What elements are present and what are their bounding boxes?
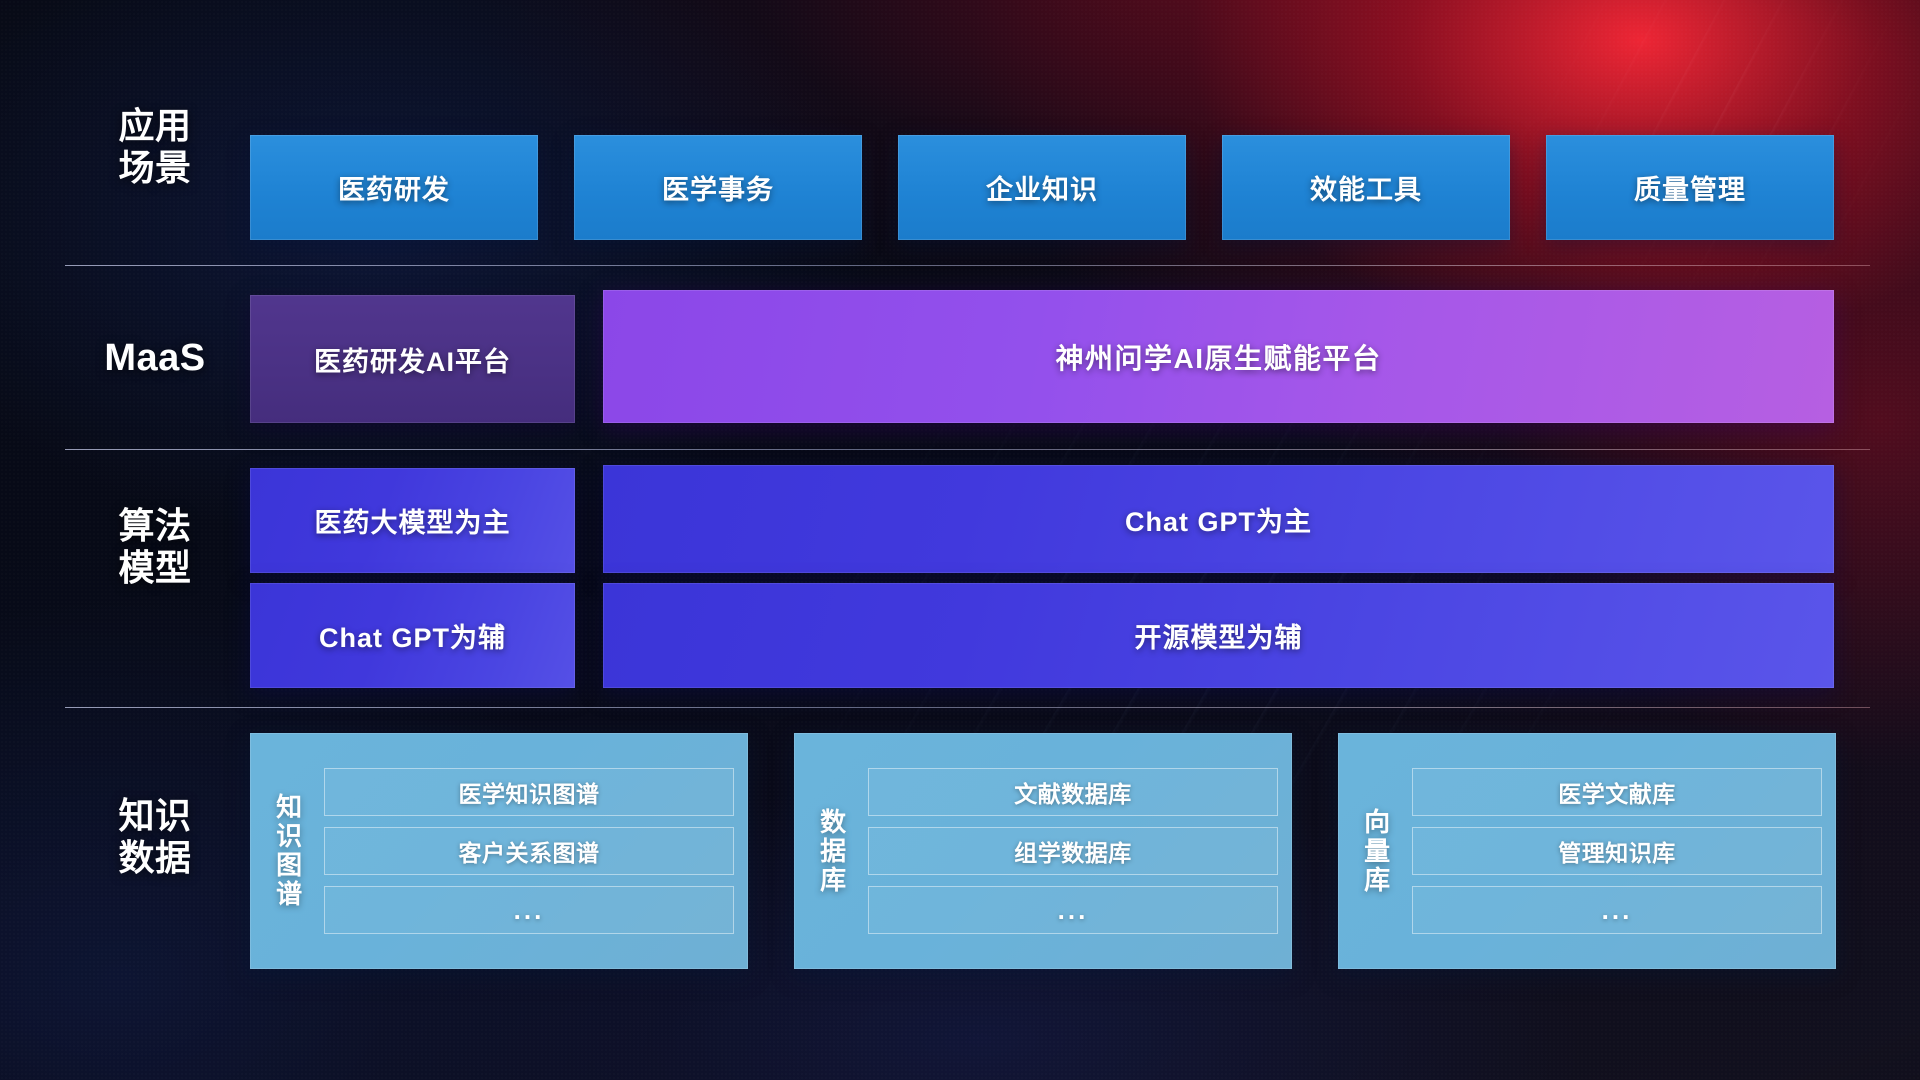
algorithm-label: 医药大模型为主 xyxy=(315,501,511,540)
layer-label-line1: 算法 xyxy=(65,505,245,547)
maas-platform-label: 医药研发AI平台 xyxy=(314,340,511,379)
layer-divider-1 xyxy=(65,265,1870,266)
layer-label-line2: 数据 xyxy=(65,837,245,879)
knowledge-item[interactable]: 医学文献库 xyxy=(1412,768,1822,816)
algorithm-label: Chat GPT为辅 xyxy=(319,616,506,655)
algorithm-label: 开源模型为辅 xyxy=(1135,616,1303,655)
layer-label-line2: 场景 xyxy=(65,147,245,189)
knowledge-group-items: 医学知识图谱 客户关系图谱 ... xyxy=(324,747,734,955)
maas-platform-card-medical[interactable]: 医药研发AI平台 xyxy=(250,295,575,423)
algorithm-card-secondary-right[interactable]: 开源模型为辅 xyxy=(603,583,1834,688)
knowledge-item-more[interactable]: ... xyxy=(324,886,734,934)
layer-label-maas: MaaS xyxy=(65,336,245,381)
algorithm-card-secondary-left[interactable]: Chat GPT为辅 xyxy=(250,583,575,688)
app-scenario-card-5[interactable]: 质量管理 xyxy=(1546,135,1834,240)
app-scenario-label: 医学事务 xyxy=(662,168,774,207)
layer-divider-2 xyxy=(65,449,1870,450)
layer-label-line1: 知识 xyxy=(65,795,245,837)
app-scenario-label: 效能工具 xyxy=(1310,168,1422,207)
architecture-diagram: 应用 场景 医药研发 医学事务 企业知识 效能工具 质量管理 MaaS 医药研发… xyxy=(0,0,1920,1080)
knowledge-item-more[interactable]: ... xyxy=(1412,886,1822,934)
layer-label-knowledge-data: 知识 数据 xyxy=(65,795,245,880)
knowledge-item[interactable]: 医学知识图谱 xyxy=(324,768,734,816)
knowledge-item-more[interactable]: ... xyxy=(868,886,1278,934)
algorithm-card-primary-right[interactable]: Chat GPT为主 xyxy=(603,465,1834,573)
app-scenario-label: 企业知识 xyxy=(986,168,1098,207)
layer-divider-3 xyxy=(65,707,1870,708)
layer-label-line1: MaaS xyxy=(65,336,245,381)
knowledge-item[interactable]: 组学数据库 xyxy=(868,827,1278,875)
knowledge-group-vector[interactable]: 向量库 医学文献库 管理知识库 ... xyxy=(1338,733,1836,969)
app-scenario-card-4[interactable]: 效能工具 xyxy=(1222,135,1510,240)
algorithm-label: Chat GPT为主 xyxy=(1125,500,1312,539)
knowledge-item[interactable]: 管理知识库 xyxy=(1412,827,1822,875)
knowledge-item[interactable]: 文献数据库 xyxy=(868,768,1278,816)
layer-label-application-scenarios: 应用 场景 xyxy=(65,105,245,190)
knowledge-group-title: 知识图谱 xyxy=(250,747,324,955)
maas-platform-card-main[interactable]: 神州问学AI原生赋能平台 xyxy=(603,290,1834,423)
app-scenario-label: 医药研发 xyxy=(338,168,450,207)
knowledge-group-database[interactable]: 数据库 文献数据库 组学数据库 ... xyxy=(794,733,1292,969)
algorithm-card-primary-left[interactable]: 医药大模型为主 xyxy=(250,468,575,573)
knowledge-group-title: 数据库 xyxy=(794,747,868,955)
knowledge-group-items: 医学文献库 管理知识库 ... xyxy=(1412,747,1822,955)
layer-label-algorithm-model: 算法 模型 xyxy=(65,505,245,590)
layer-label-line1: 应用 xyxy=(65,105,245,147)
app-scenario-card-3[interactable]: 企业知识 xyxy=(898,135,1186,240)
knowledge-group-items: 文献数据库 组学数据库 ... xyxy=(868,747,1278,955)
app-scenario-label: 质量管理 xyxy=(1634,168,1746,207)
app-scenario-card-2[interactable]: 医学事务 xyxy=(574,135,862,240)
knowledge-group-graph[interactable]: 知识图谱 医学知识图谱 客户关系图谱 ... xyxy=(250,733,748,969)
layer-label-line2: 模型 xyxy=(65,547,245,589)
app-scenario-card-1[interactable]: 医药研发 xyxy=(250,135,538,240)
knowledge-group-title: 向量库 xyxy=(1338,747,1412,955)
maas-platform-label: 神州问学AI原生赋能平台 xyxy=(1055,337,1381,377)
knowledge-item[interactable]: 客户关系图谱 xyxy=(324,827,734,875)
